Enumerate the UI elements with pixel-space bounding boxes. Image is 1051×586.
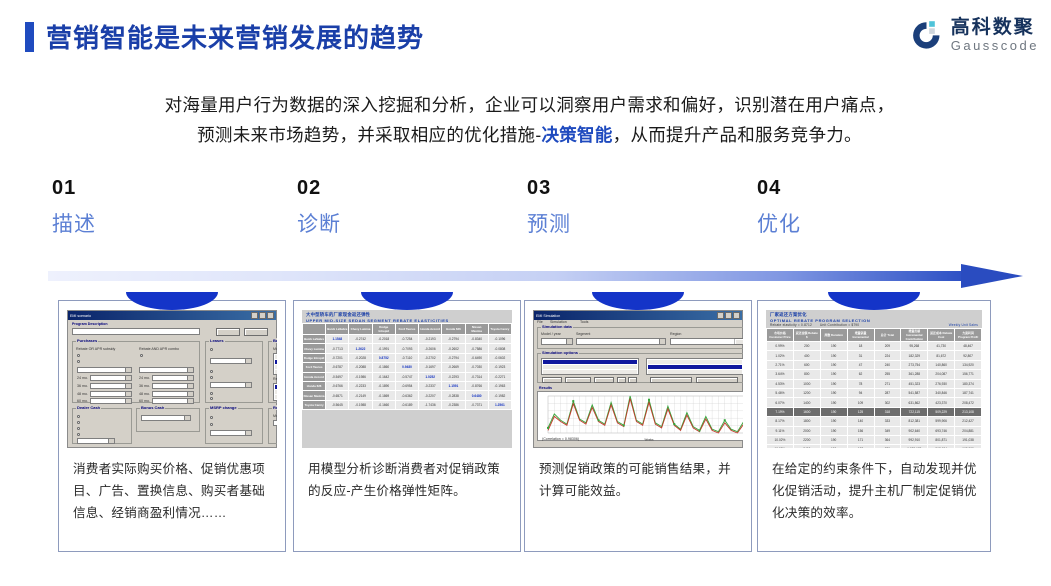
- cell: 62: [847, 370, 874, 379]
- cell: -0.6954: [395, 381, 418, 390]
- table-row: 2.71%60019047240273,754140,860134,920: [767, 360, 982, 369]
- step-label: 预测: [527, 210, 571, 240]
- radio-lease-only[interactable]: [77, 433, 80, 436]
- cell: -0.2838: [442, 391, 465, 400]
- card-caption: 消费者实际购买价格、促销优惠项目、广告、置换信息、购买者基础信息、经销商盈利情况…: [73, 458, 273, 524]
- cell: 1000: [793, 379, 820, 388]
- cell: 2000: [793, 426, 820, 435]
- slide-header: 营销智能是未来营销发展的趋势 高科数聚 Gausscode: [0, 0, 1051, 72]
- label-results: Results: [539, 386, 552, 390]
- cell: 0.9480: [395, 363, 418, 372]
- cell: -0.6362: [395, 391, 418, 400]
- list-item: [275, 365, 277, 369]
- cell: -0.7093: [395, 344, 418, 353]
- brand-logo: 高科数聚 Gausscode: [910, 18, 1039, 53]
- step-label: 诊断: [297, 210, 341, 240]
- cell: 109: [847, 398, 874, 407]
- cell: 200: [793, 342, 820, 351]
- row-header: Ford Taurus: [303, 363, 326, 372]
- cell: 340,846: [928, 388, 955, 397]
- group-simulation-data: Simulation data Model / year Segment Reg…: [537, 327, 743, 349]
- meta-weekly-sales: Weekly Unit Sales: [949, 323, 982, 327]
- table-row: 1.02%40019031224182,32981,67292,807: [767, 351, 982, 360]
- table-row: 3.64%80019062255361,288204,087156,771: [767, 370, 982, 379]
- results-chart: Weeks: [537, 391, 743, 441]
- label-48mo-r: 48 mo.: [139, 392, 150, 396]
- cell: -0.7110: [395, 353, 418, 362]
- cell: -0.1986: [349, 372, 372, 381]
- msrp-change-combo[interactable]: [210, 430, 252, 436]
- step-number: 03: [527, 176, 571, 200]
- combo-24mo-left[interactable]: [90, 375, 132, 381]
- cell: 81,672: [928, 351, 955, 360]
- models-listbox[interactable]: [273, 353, 277, 375]
- row-header: Dodge Intrepid: [303, 353, 326, 362]
- bonus-cash-combo[interactable]: [141, 415, 191, 421]
- table-row: Chevy Lumina-0.77131.2622-0.1991-0.7093-…: [303, 344, 512, 353]
- cell: -0.7030: [465, 363, 488, 372]
- cell: -0.2193: [419, 335, 442, 344]
- group-title: Simulation data: [541, 324, 573, 329]
- cell: 190: [820, 379, 847, 388]
- list-item: [543, 365, 637, 369]
- rebate-model-combo[interactable]: [273, 420, 277, 426]
- elasticity-matrix: Buick LaSabreChevy LuminaDodge IntrepidF…: [302, 323, 512, 410]
- list-item: [648, 370, 742, 374]
- regions-listbox[interactable]: [273, 383, 277, 401]
- group-title: Bonus Cash: [140, 405, 165, 410]
- table-row: 10.02%2200190171364992,910801,871191,038: [767, 435, 982, 444]
- list-item-selected: [275, 385, 277, 389]
- step-01: 01 描述: [52, 176, 96, 240]
- cell: 541,587: [901, 388, 928, 397]
- table-row: 7.19%1600190125318722,115509,229213,108: [767, 407, 982, 416]
- group-title: Rebate incentives: [272, 405, 277, 410]
- table-row: 5.46%120019094287541,587340,846187,741: [767, 388, 982, 397]
- cell: 302: [874, 398, 901, 407]
- cell: 423,370: [928, 398, 955, 407]
- close-icon: [267, 312, 274, 319]
- cell: 255: [874, 370, 901, 379]
- cell: -0.2602: [442, 344, 465, 353]
- col-header: 总计 Total: [874, 329, 901, 342]
- card-optimize[interactable]: 厂家返还方案优化 OPTIMAL REBATE PROGRAM SELECTIO…: [757, 300, 991, 552]
- models-listbox[interactable]: [646, 358, 743, 375]
- card-diagnose[interactable]: 大中型轿车的厂家现金返还弹性 UPPER MID-SIZE SEDAN SEGM…: [293, 300, 521, 552]
- col-header: 返还金额 Rebate $: [793, 329, 820, 342]
- row-header: Buick LaSabre: [303, 335, 326, 344]
- cell: 78: [847, 379, 874, 388]
- group-title: Leases: [209, 338, 225, 343]
- label-48mo: 48 mo.: [77, 392, 88, 396]
- window-controls[interactable]: [251, 312, 274, 319]
- combo-36mo-left[interactable]: [90, 383, 132, 389]
- optimal-rebate-table: 市场价格 Customer Price返还金额 Rebate $周数 Durat…: [766, 328, 982, 448]
- cell: -0.7314: [465, 372, 488, 381]
- label-model-year: Model / year: [541, 332, 561, 336]
- radio-rebate-cash-fin[interactable]: [77, 421, 80, 424]
- arrow-shaft: [48, 271, 968, 281]
- cell: 1.2622: [349, 344, 372, 353]
- cell: -0.5497: [326, 372, 349, 381]
- cell: -0.2149: [349, 391, 372, 400]
- col-header: 增量销量 Incremental: [847, 329, 874, 342]
- label-36mo: 36 mo.: [77, 384, 88, 388]
- cell: -0.7201: [326, 353, 349, 362]
- page-title: 营销智能是未来营销发展的趋势: [46, 18, 424, 55]
- program-description-input[interactable]: [72, 328, 200, 335]
- step-04: 04 优化: [757, 176, 801, 240]
- radio-pct-of-msrp[interactable]: [210, 397, 213, 400]
- step-02: 02 诊断: [297, 176, 341, 240]
- combo-48mo-right[interactable]: [152, 391, 194, 397]
- cell: 187: [847, 445, 874, 448]
- minimize-icon: [717, 312, 724, 319]
- group-dealer-cash: Dealer Cash: [72, 408, 132, 444]
- select-all-button[interactable]: [650, 377, 692, 383]
- card-caption: 在给定的约束条件下，自动发现并优化促销活动，提升主机厂制定促销优化决策的效率。: [772, 458, 978, 524]
- arrow-head-icon: [961, 264, 1023, 288]
- cell: -0.0602: [488, 353, 511, 362]
- cell: 31: [847, 351, 874, 360]
- paragraph-line-2: 预测未来市场趋势，并采取相应的优化措施-决策智能，从而提升产品和服务竞争力。: [52, 120, 1007, 150]
- label-60mo: 60 mo.: [77, 399, 88, 403]
- cell: -0.1991: [372, 344, 395, 353]
- model-year-combo[interactable]: [541, 338, 573, 345]
- row-header: Honda Accord: [303, 372, 326, 381]
- cell: 2200: [793, 435, 820, 444]
- list-item: [543, 370, 637, 374]
- group-title: Base incentives: [272, 338, 277, 343]
- segment-combo[interactable]: [576, 338, 666, 345]
- cell: 190: [820, 398, 847, 407]
- list-item: [275, 395, 277, 399]
- cell: 4.53%: [767, 379, 794, 388]
- minimize-icon: [251, 312, 258, 319]
- group-rebate-incentives: Rebate incentives Model Region: [268, 408, 277, 444]
- card-screenshot-simulation: EMI Simulation File Simulation Tools Sim…: [533, 310, 743, 448]
- move-up-button[interactable]: [617, 377, 626, 383]
- maximize-icon: [259, 312, 266, 319]
- clear-all-button[interactable]: [696, 377, 738, 383]
- table-row: 6.07%1400190109302631,862423,370208,472: [767, 398, 982, 407]
- card-tab-marker: [126, 292, 218, 310]
- cell: 171: [847, 435, 874, 444]
- cell: 2400: [793, 445, 820, 448]
- logo-text: 高科数聚 Gausscode: [951, 18, 1039, 53]
- cell: 10.93%: [767, 445, 794, 448]
- card-tab-marker: [828, 292, 920, 310]
- card-caption: 预测促销政策的可能销售结果，并计算可能效益。: [539, 458, 739, 502]
- cell: 271: [874, 379, 901, 388]
- col-header: Chevy Lumina: [349, 324, 372, 335]
- title-group: 营销智能是未来营销发展的趋势: [25, 18, 424, 55]
- cell: -1.7436: [419, 400, 442, 409]
- table-row: Dodge Intrepid-0.7201-0.20280.8752-0.711…: [303, 353, 512, 362]
- label-regions: Region(s):: [273, 377, 277, 381]
- slide-root: 营销智能是未来营销发展的趋势 高科数聚 Gausscode 对海量用户行为数据的…: [0, 0, 1051, 586]
- table-row: Buick LaSabre1.1548-0.2742-0.2018-0.7254…: [303, 335, 512, 344]
- cell: 812,381: [901, 417, 928, 426]
- intro-paragraph: 对海量用户行为数据的深入挖掘和分析，企业可以洞察用户需求和偏好，识别潜在用户痛点…: [52, 90, 1007, 150]
- radio-amount-dollar[interactable]: [210, 392, 213, 395]
- card-caption: 用模型分析诊断消费者对促销政策的反应-产生价格弹性矩阵。: [308, 458, 508, 502]
- cell: -0.7586: [465, 344, 488, 353]
- cell: -0.2337: [419, 381, 442, 390]
- scenarios-listbox[interactable]: [541, 358, 639, 375]
- radio-no-apr-subsidy[interactable]: [77, 360, 80, 363]
- combo-48mo-left[interactable]: [90, 391, 132, 397]
- cell: 1,083,170: [901, 445, 928, 448]
- list-item-selected: [648, 365, 742, 369]
- step-03: 03 预测: [527, 176, 571, 240]
- cell: 190: [820, 351, 847, 360]
- label-rebate-or-apr: Rebate OR APR subsidy: [76, 347, 115, 351]
- cell: -0.7254: [395, 335, 418, 344]
- cell: 276,930: [928, 379, 955, 388]
- cell: 318: [874, 407, 901, 416]
- correlation-footnote: (Correlation = 0.98306): [542, 437, 579, 441]
- radio-money-factor[interactable]: [210, 370, 213, 373]
- window-title-text: EMI scenario: [70, 313, 91, 318]
- card-describe[interactable]: EMI scenario Program Description Purchas…: [58, 300, 286, 552]
- cell: 191,038: [955, 435, 982, 444]
- card-row: EMI scenario Program Description Purchas…: [0, 300, 1051, 555]
- list-item: [275, 390, 277, 394]
- label-36mo-r: 36 mo.: [139, 384, 150, 388]
- cell: -0.8340: [465, 335, 488, 344]
- cell: 2.71%: [767, 360, 794, 369]
- lease-rate-combo[interactable]: [210, 382, 252, 388]
- radio-all-cash-fin-lease[interactable]: [77, 427, 80, 430]
- cell: 912,184: [928, 445, 955, 448]
- cell: 400: [793, 351, 820, 360]
- cell: -0.2794: [442, 335, 465, 344]
- col-header: Nissan Maxima: [465, 324, 488, 335]
- cell: 992,910: [901, 435, 928, 444]
- logo-cn-name: 高科数聚: [951, 18, 1039, 38]
- list-item: [275, 370, 277, 374]
- table-row: Honda Accord-0.5497-0.1986-0.1642-0.5747…: [303, 372, 512, 381]
- radio-apr[interactable]: [210, 376, 213, 379]
- cell: 240: [874, 360, 901, 369]
- col-header: Honda 626: [442, 324, 465, 335]
- cell: 190: [820, 370, 847, 379]
- cell: 7.19%: [767, 407, 794, 416]
- cell: -0.1988: [349, 400, 372, 409]
- cell: 180,374: [955, 379, 982, 388]
- corner-cell: [303, 324, 326, 335]
- cell: 364: [874, 435, 901, 444]
- paragraph-line-2-b: ，从而提升产品和服务竞争力。: [613, 125, 862, 145]
- cell: -0.1869: [372, 391, 395, 400]
- cell: 3.64%: [767, 370, 794, 379]
- apr-combo[interactable]: [139, 367, 194, 373]
- save-button[interactable]: [216, 328, 240, 336]
- radio-not-offered[interactable]: [140, 354, 143, 357]
- move-down-button[interactable]: [628, 377, 637, 383]
- radio-cash-only[interactable]: [77, 415, 80, 418]
- cell: -0.2606: [419, 344, 442, 353]
- radio-no-subsidy[interactable]: [210, 348, 213, 351]
- card-screenshot-optimal-rebate: 厂家返还方案优化 OPTIMAL REBATE PROGRAM SELECTIO…: [766, 310, 982, 448]
- cell: -0.2669: [442, 363, 465, 372]
- table-row: 10.93%24001901873801,083,170912,184165,9…: [767, 445, 982, 448]
- cell: 1800: [793, 417, 820, 426]
- cell: 631,862: [901, 398, 928, 407]
- group-bonus-cash: Bonus Cash: [136, 408, 200, 432]
- cell: 208,472: [955, 398, 982, 407]
- radio-msrp-pct[interactable]: [210, 423, 213, 426]
- cell: 156: [847, 426, 874, 435]
- window-titlebar: EMI Simulation: [534, 311, 742, 320]
- cell: 1.1548: [326, 335, 349, 344]
- group-title: Dealer Cash: [76, 405, 101, 410]
- cell: 212,427: [955, 417, 982, 426]
- cell: 190: [820, 417, 847, 426]
- cell: 9.11%: [767, 426, 794, 435]
- svg-text:Weeks: Weeks: [644, 438, 654, 442]
- cell: 204,087: [928, 370, 955, 379]
- add-button[interactable]: [542, 377, 562, 383]
- table-row: 4.53%100019078271451,323276,930180,374: [767, 379, 982, 388]
- title-accent-bar: [25, 22, 34, 52]
- dealer-cash-combo[interactable]: [77, 438, 115, 444]
- table-row: Toyota Camry-0.5645-0.1988-0.1660-0.6189…: [303, 400, 512, 409]
- col-header: 方案利润 Program Profit: [955, 329, 982, 342]
- row-header: Chevy Lumina: [303, 344, 326, 353]
- cell: 140,860: [928, 360, 955, 369]
- cell: -0.6571: [326, 391, 349, 400]
- combo-60mo-left[interactable]: [90, 398, 132, 404]
- window-controls[interactable]: [717, 312, 740, 319]
- window-body: Program Description Purchases Rebate OR …: [68, 320, 276, 447]
- col-header: Buick LaSabre: [326, 324, 349, 335]
- cell: -0.2293: [442, 372, 465, 381]
- combo-24mo-right[interactable]: [152, 375, 194, 381]
- cell: 224: [874, 351, 901, 360]
- close-button[interactable]: [244, 328, 268, 336]
- group-simulation-options: Simulation options: [537, 353, 743, 383]
- meta-elasticity: Rebate elasticity = 0.8712: [770, 323, 812, 327]
- step-label: 描述: [52, 210, 96, 240]
- table-row: Honda 626-0.6766-0.2233-0.1890-0.6954-0.…: [303, 381, 512, 390]
- cell: 1.02%: [767, 351, 794, 360]
- cell: 1200: [793, 388, 820, 397]
- elasticity-table-panel: 大中型轿车的厂家现金返还弹性 UPPER MID-SIZE SEDAN SEGM…: [302, 310, 512, 448]
- cell: -0.1697: [419, 363, 442, 372]
- group-leases: Leases: [205, 341, 263, 403]
- progress-arrow: [48, 264, 1023, 292]
- cell: 0.6480: [465, 391, 488, 400]
- cell: -0.2207: [419, 391, 442, 400]
- cell: -0.2271: [488, 372, 511, 381]
- radio-msrp-amount[interactable]: [210, 416, 213, 419]
- cell: 722,115: [901, 407, 928, 416]
- card-predict[interactable]: EMI Simulation File Simulation Tools Sim…: [524, 300, 752, 552]
- cell: -0.2386: [442, 400, 465, 409]
- cell: 349: [874, 426, 901, 435]
- combo-60mo-right[interactable]: [152, 398, 194, 404]
- cell: 509,229: [928, 407, 955, 416]
- cell: 0.8752: [372, 353, 395, 362]
- cell: -0.6766: [326, 381, 349, 390]
- card-tab-marker: [592, 292, 684, 310]
- group-title: Purchases: [76, 338, 98, 343]
- group-msrp-change: MSRP change: [205, 408, 263, 444]
- rebate-amount-combo[interactable]: [77, 367, 132, 373]
- card-screenshot-elasticity: 大中型轿车的厂家现金返还弹性 UPPER MID-SIZE SEDAN SEGM…: [302, 310, 512, 448]
- cell: 693,746: [928, 426, 955, 435]
- list-item-selected: [275, 360, 277, 364]
- table-row: Ford Taurus-0.6787-0.2088-0.18600.9480-0…: [303, 363, 512, 372]
- cell: 47: [847, 360, 874, 369]
- step-number: 01: [52, 176, 96, 200]
- cell: -0.5747: [395, 372, 418, 381]
- col-header: Ford Taurus: [395, 324, 418, 335]
- cell: -0.7713: [326, 344, 349, 353]
- cell: -0.7371: [465, 400, 488, 409]
- cell: 187,741: [955, 388, 982, 397]
- col-header: 增量贡献 Incremental Contribution: [901, 329, 928, 342]
- cell: 204,881: [955, 426, 982, 435]
- label-60mo-r: 60 mo.: [139, 399, 150, 403]
- cell: 95,268: [901, 342, 928, 351]
- label-model: Model: [273, 414, 277, 418]
- cell: 140: [847, 417, 874, 426]
- combo-36mo-right[interactable]: [152, 383, 194, 389]
- cell: 48,467: [955, 342, 982, 351]
- remove-button[interactable]: [565, 377, 591, 383]
- cell: -0.1660: [372, 400, 395, 409]
- cell: 18: [847, 342, 874, 351]
- simulation-line-chart: Weeks: [538, 392, 743, 442]
- cell: 273,754: [901, 360, 928, 369]
- cell: 190: [820, 342, 847, 351]
- cell: -0.1096: [488, 335, 511, 344]
- maximize-icon: [725, 312, 732, 319]
- cell: 182,329: [901, 351, 928, 360]
- list-item: [648, 360, 742, 364]
- run-sim-button[interactable]: [734, 338, 743, 345]
- cell: -0.2794: [442, 353, 465, 362]
- cell: 5.46%: [767, 388, 794, 397]
- cell: -0.1963: [488, 381, 511, 390]
- label-24mo: 24 mo.: [77, 376, 88, 380]
- cell: -0.1860: [372, 363, 395, 372]
- cell: 1.0252: [419, 372, 442, 381]
- window-body: File Simulation Tools Simulation data Mo…: [534, 320, 742, 447]
- cell: 94: [847, 388, 874, 397]
- cell: -0.1890: [372, 381, 395, 390]
- cell: 380: [874, 445, 901, 448]
- lease-cash-combo[interactable]: [210, 358, 252, 364]
- paragraph-line-1: 对海量用户行为数据的深入挖掘和分析，企业可以洞察用户需求和偏好，识别潜在用户痛点…: [52, 90, 1007, 120]
- edit-button[interactable]: [594, 377, 614, 383]
- radio-no-rebate[interactable]: [77, 354, 80, 357]
- cell: -0.2742: [349, 335, 372, 344]
- cell: 902,640: [901, 426, 928, 435]
- menu-tools[interactable]: Tools: [580, 320, 588, 324]
- group-purchases: Purchases Rebate OR APR subsidy Rebate A…: [72, 341, 200, 403]
- paragraph-line-2-a: 预测未来市场趋势，并采取相应的优化措施-: [197, 125, 541, 145]
- col-header: 周数 Duration: [820, 329, 847, 342]
- cell: 190: [820, 388, 847, 397]
- label-rebate-and-apr: Rebate AND APR combo: [139, 347, 179, 351]
- region-combo[interactable]: [670, 338, 743, 345]
- step-labels: 01 描述 02 诊断 03 预测 04 优化: [52, 176, 1012, 256]
- label-24mo-r: 24 mo.: [139, 376, 150, 380]
